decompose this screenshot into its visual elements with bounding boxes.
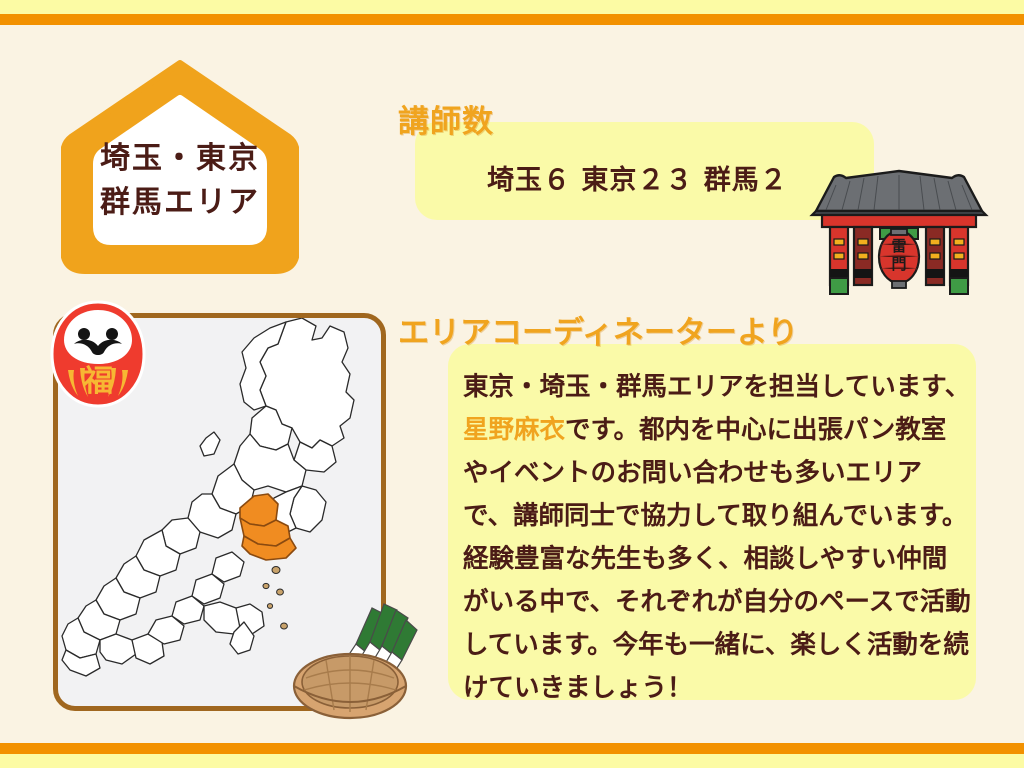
- coordinator-message-prefix: 東京・埼玉・群馬エリアを担当しています、: [463, 372, 970, 402]
- coordinator-message: 東京・埼玉・群馬エリアを担当しています、星野麻衣です。都内を中心に出張パン教室や…: [463, 366, 971, 710]
- area-badge: 埼玉・東京 群馬エリア: [61, 59, 299, 275]
- kaminarimon-gate-icon: 雷 門: [806, 165, 992, 305]
- coordinator-message-suffix: です。都内を中心に出張パン教室やイベントのお問い合わせも多いエリアで、講師同士で…: [463, 415, 971, 703]
- coordinator-heading: エリアコーディネーターより: [398, 307, 798, 352]
- negi-basket-icon: [286, 592, 421, 722]
- coordinator-name: 星野麻衣: [463, 415, 565, 445]
- area-badge-label: 埼玉・東京 群馬エリア: [61, 137, 299, 224]
- area-badge-line1: 埼玉・東京: [61, 137, 299, 181]
- instructor-count-heading: 講師数: [398, 96, 494, 141]
- svg-text:門: 門: [891, 255, 906, 273]
- top-yellow-edge: [0, 0, 1024, 14]
- slide-canvas: 埼玉・東京 群馬エリア 講師数 埼玉６ 東京２３ 群馬２: [0, 0, 1024, 768]
- top-orange-bar: [0, 14, 1024, 25]
- svg-text:雷: 雷: [891, 237, 906, 255]
- instructor-count-values: 埼玉６ 東京２３ 群馬２: [487, 158, 788, 197]
- bottom-orange-bar: [0, 743, 1024, 754]
- daruma-doll-icon: 福: [40, 296, 156, 412]
- bottom-yellow-edge: [0, 754, 1024, 768]
- area-badge-line2: 群馬エリア: [61, 181, 299, 225]
- svg-text:福: 福: [82, 364, 113, 399]
